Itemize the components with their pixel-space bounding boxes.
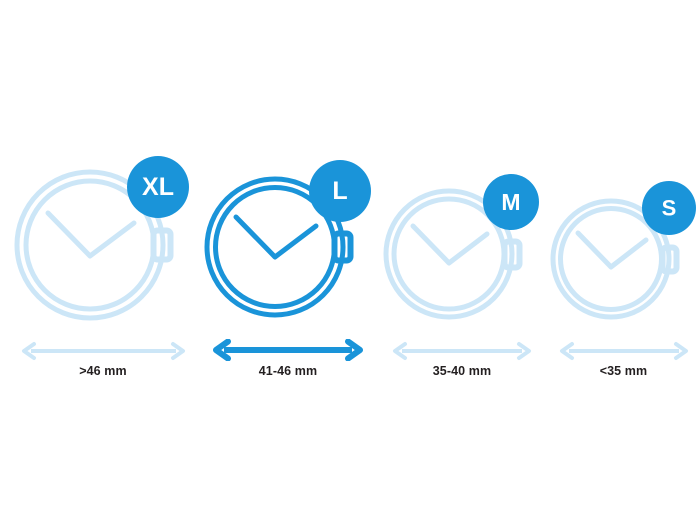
double-arrow-icon <box>559 341 689 361</box>
watch-size-list: XL >46 mm <box>0 0 700 525</box>
watch-figure-l: L <box>198 159 378 339</box>
badge-label: XL <box>142 173 174 201</box>
watch-size-option-l[interactable]: L 41-46 mm <box>198 0 378 525</box>
badge-label: L <box>332 177 347 205</box>
watch-size-guide: XL >46 mm <box>0 0 700 525</box>
watch-figure-m: M <box>378 171 546 341</box>
size-range-label-xl: >46 mm <box>79 365 127 378</box>
badge-label: M <box>501 189 520 215</box>
size-range-label-m: 35-40 mm <box>433 365 491 378</box>
measure-arrow-xl <box>21 341 186 361</box>
size-badge-icon-m[interactable]: M <box>482 173 540 231</box>
measure-arrow-m <box>392 341 532 361</box>
size-range-label-s: <35 mm <box>600 365 648 378</box>
size-badge-icon-xl[interactable]: XL <box>126 155 190 219</box>
watch-hands-icon <box>578 233 646 267</box>
watch-hands-icon <box>236 217 316 257</box>
size-range-label-l: 41-46 mm <box>259 365 317 378</box>
watch-hands-icon <box>48 213 134 256</box>
watch-size-option-xl[interactable]: XL >46 mm <box>8 0 198 525</box>
watch-figure-xl: XL <box>8 151 198 341</box>
size-badge-icon-s[interactable]: S <box>641 180 697 236</box>
double-arrow-icon <box>392 341 532 361</box>
watch-figure-s: S <box>546 178 700 341</box>
watch-hands-icon <box>413 226 487 263</box>
measure-arrow-l <box>213 339 363 361</box>
badge-label: S <box>662 195 677 220</box>
double-arrow-icon <box>21 341 186 361</box>
watch-size-option-m[interactable]: M 35-40 mm <box>378 0 546 525</box>
size-badge-icon-l[interactable]: L <box>308 159 372 223</box>
watch-size-option-s[interactable]: S <35 mm <box>546 0 700 525</box>
measure-arrow-s <box>559 341 689 361</box>
double-arrow-icon <box>213 339 363 361</box>
